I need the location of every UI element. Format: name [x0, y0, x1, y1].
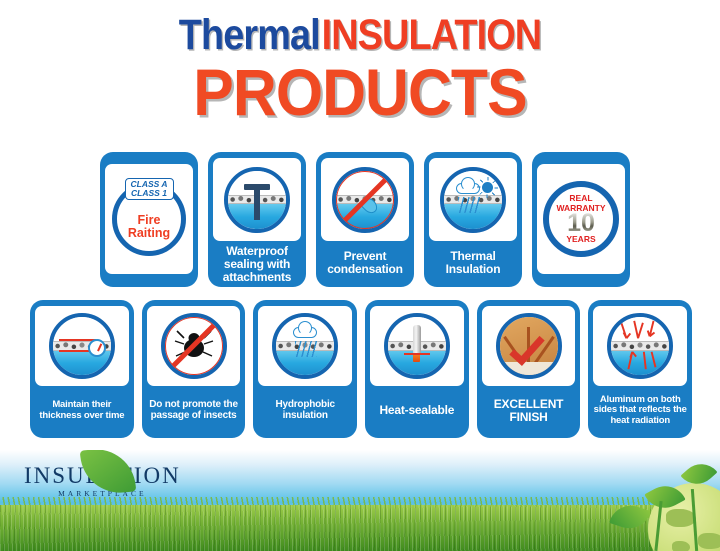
fire-class-badge: CLASS A CLASS 1: [125, 178, 174, 200]
icon-panel: [482, 306, 576, 386]
title-line-2: PRODUCTS: [29, 59, 691, 125]
heat-seal-iron-icon: [384, 313, 450, 379]
rain-cloud-icon: [272, 313, 338, 379]
card-waterproof-sealing[interactable]: Waterproof sealing with attachments: [208, 152, 306, 287]
card-prevent-condensation[interactable]: Prevent condensation: [316, 152, 414, 287]
warranty-line-1: REAL: [569, 194, 592, 203]
roof-shape: [500, 317, 558, 375]
gauge-icon: [88, 339, 106, 357]
roof-check-icon: [496, 313, 562, 379]
feature-row-1: CLASS A CLASS 1 Fire Raiting: [100, 152, 630, 287]
card-hydrophobic[interactable]: Hydrophobic insulation: [253, 300, 357, 438]
icon-panel: [258, 306, 352, 386]
card-caption: Thermal Insulation: [429, 245, 517, 280]
card-fire-rating[interactable]: CLASS A CLASS 1 Fire Raiting: [100, 152, 198, 287]
t-fastener-icon: [224, 167, 290, 233]
roof-base: [500, 362, 558, 375]
fire-word-2: Raiting: [128, 227, 170, 240]
logo-subtitle: MARKETPLACE: [24, 490, 181, 498]
fire-class-line-2: CLASS 1: [131, 189, 168, 198]
globe-land-2: [698, 533, 720, 549]
title-word-insulation: INSULATION: [322, 11, 542, 59]
reflect-arrows-icon: [607, 313, 673, 379]
icon-panel: [213, 158, 301, 241]
icon-panel: REAL WARRANTY 10 YEARS: [537, 164, 625, 274]
globe-land-3: [672, 541, 690, 551]
footer-banner: INSULATION MARKETPLACE: [0, 450, 720, 551]
title-line-1: ThermalINSULATION: [43, 14, 677, 57]
heat-ray-arrows: [611, 317, 669, 375]
icon-panel: CLASS A CLASS 1 Fire Raiting: [105, 164, 193, 274]
no-insects-icon: [161, 313, 227, 379]
card-caption: Heat-sealable: [379, 390, 454, 431]
poster-title: ThermalINSULATION PRODUCTS: [0, 14, 720, 125]
insect-icon: [174, 329, 214, 363]
thickness-gauge-icon: [49, 313, 115, 379]
card-caption: Hydrophobic insulation: [258, 390, 352, 431]
card-no-insects[interactable]: Do not promote the passage of insects: [142, 300, 246, 438]
seal-arrow: [404, 353, 430, 355]
icon-panel: [593, 306, 687, 386]
warranty-number: 10: [567, 211, 595, 236]
card-caption: Aluminum on both sides that reflects the…: [593, 390, 687, 431]
card-caption: Waterproof sealing with attachments: [213, 245, 301, 284]
rain-icon: [295, 341, 317, 357]
poster-root: ThermalINSULATION PRODUCTS CLASS A CLASS…: [0, 0, 720, 551]
card-excellent-finish[interactable]: EXCELLENT FINISH: [477, 300, 581, 438]
warranty-line-3: YEARS: [566, 235, 595, 244]
card-warranty[interactable]: REAL WARRANTY 10 YEARS: [532, 152, 630, 287]
icon-panel: [370, 306, 464, 386]
feature-row-2: Maintain their thickness over time Do no…: [30, 300, 692, 438]
card-caption: Maintain their thickness over time: [35, 390, 129, 431]
card-aluminum-reflect[interactable]: Aluminum on both sides that reflects the…: [588, 300, 692, 438]
icon-panel: [321, 158, 409, 241]
icon-panel: [429, 158, 517, 241]
fire-rating-icon: CLASS A CLASS 1 Fire Raiting: [112, 182, 186, 256]
no-condensation-icon: [332, 167, 398, 233]
fastener-shape: [244, 184, 270, 220]
brand-logo[interactable]: INSULATION MARKETPLACE: [24, 464, 181, 498]
card-thermal-insulation[interactable]: Thermal Insulation: [424, 152, 522, 287]
icon-panel: [147, 306, 241, 386]
grass-field: [0, 505, 720, 551]
rain-sun-icon: [440, 167, 506, 233]
scene-sky: [336, 171, 394, 198]
card-caption: EXCELLENT FINISH: [482, 390, 576, 431]
fire-rating-label: Fire Raiting: [128, 214, 170, 240]
icon-panel: [35, 306, 129, 386]
fastener-stem: [254, 190, 260, 220]
rain-icon: [458, 197, 480, 213]
cloud-icon: [293, 327, 317, 338]
iron-tool-icon: [413, 325, 421, 355]
card-caption: Prevent condensation: [321, 245, 409, 280]
card-heat-sealable[interactable]: Heat-sealable: [365, 300, 469, 438]
sun-icon: [482, 182, 493, 193]
card-caption: Do not promote the passage of insects: [147, 390, 241, 431]
card-maintain-thickness[interactable]: Maintain their thickness over time: [30, 300, 134, 438]
warranty-badge-icon: REAL WARRANTY 10 YEARS: [543, 181, 619, 257]
title-word-thermal: Thermal: [179, 11, 320, 59]
